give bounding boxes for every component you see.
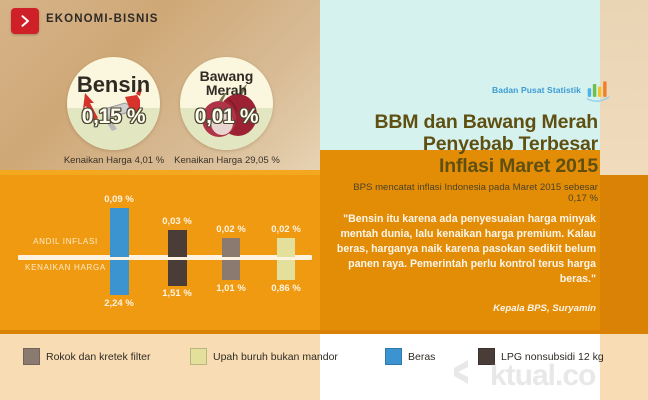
highlight-name-line2: Merah	[206, 82, 247, 98]
chevron-right-icon	[19, 14, 31, 28]
chart-baseline	[18, 255, 312, 260]
page-subtitle: BPS mencatat inflasi Indonesia pada Mare…	[332, 182, 598, 204]
chart-axis-label-above: ANDIL INFLASI	[18, 237, 113, 246]
legend-swatch	[23, 348, 40, 365]
bar-segment	[222, 238, 240, 257]
bar-segment	[277, 260, 295, 280]
bps-logo-icon	[585, 78, 611, 102]
highlight-name: Bensin	[67, 74, 160, 96]
watermark: ktual.co	[452, 358, 595, 394]
chart-bar-below-beras	[110, 260, 129, 295]
chart-bar-above-beras	[110, 208, 129, 257]
legend-item-rokok: Rokok dan kretek filter	[23, 348, 150, 365]
chart-bar-below-rokok	[222, 260, 240, 280]
quote-text: "Bensin itu karena ada penyesuaian harga…	[330, 212, 596, 287]
legend-item-beras: Beras	[385, 348, 435, 365]
legend-label: Upah buruh bukan mandor	[213, 351, 338, 363]
highlight-name: Bawang Merah	[180, 69, 273, 98]
page-title: BBM dan Bawang Merah Penyebab Terbesar I…	[332, 112, 598, 177]
legend-item-upah: Upah buruh bukan mandor	[190, 348, 338, 365]
highlight-circle: Bensin 0,15 %	[67, 57, 160, 150]
bar-segment	[110, 260, 129, 295]
chart-bar-above-lpg	[168, 230, 187, 257]
bar-segment	[168, 260, 187, 286]
chart-value-below-beras: 2,24 %	[79, 298, 159, 309]
highlight-bensin: Bensin 0,15 % Kenaikan Harga 4,01 %	[67, 57, 160, 150]
chart-bar-below-lpg	[168, 260, 187, 286]
legend-label: Beras	[408, 351, 435, 363]
highlight-value: 0,15 %	[67, 105, 160, 129]
brand-name: Badan Pusat Statistik	[492, 85, 581, 95]
legend-swatch	[190, 348, 207, 365]
watermark-mark-icon	[452, 358, 486, 394]
bar-segment	[110, 208, 129, 257]
bar-segment	[277, 238, 295, 257]
bar-segment	[168, 230, 187, 257]
watermark-text: ktual.co	[490, 359, 595, 393]
category-label: EKONOMI-BISNIS	[46, 13, 159, 25]
legend-swatch	[385, 348, 402, 365]
bar-chart: ANDIL INFLASI KENAIKAN HARGA 0,09 % 2,24…	[0, 175, 320, 330]
highlight-circle: Bawang Merah 0,01 %	[180, 57, 273, 150]
chart-axis-label-below: KENAIKAN HARGA	[18, 263, 113, 272]
quote-source: Kepala BPS, Suryamin	[330, 303, 596, 314]
highlight-caption: Kenaikan Harga 29,05 %	[147, 155, 307, 166]
chart-value-above-upah: 0,02 %	[246, 224, 326, 235]
chart-bar-below-upah	[277, 260, 295, 280]
infographic-canvas: EKONOMI-BISNIS Bensin 0,15 % Kenaikan Ha…	[0, 0, 648, 400]
headline-line-2: Penyebab Terbesar	[332, 134, 598, 156]
bar-segment	[222, 260, 240, 280]
headline-line-3: Inflasi Maret 2015	[332, 156, 598, 178]
chart-value-above-beras: 0,09 %	[79, 194, 159, 205]
chart-bar-above-rokok	[222, 238, 240, 257]
highlight-value: 0,01 %	[180, 105, 273, 129]
brand-block: Badan Pusat Statistik	[492, 78, 611, 102]
highlight-bawang-merah: Bawang Merah 0,01 % Kenaikan Harga 29,05…	[180, 57, 273, 150]
fuel-pump-icon	[67, 57, 160, 150]
chart-bar-above-upah	[277, 238, 295, 257]
headline-line-1: BBM dan Bawang Merah	[332, 112, 598, 134]
legend-label: Rokok dan kretek filter	[46, 351, 150, 363]
category-badge[interactable]	[11, 8, 39, 34]
background-panel-orange-corner	[600, 175, 648, 330]
chart-value-below-upah: 0,86 %	[246, 283, 326, 294]
